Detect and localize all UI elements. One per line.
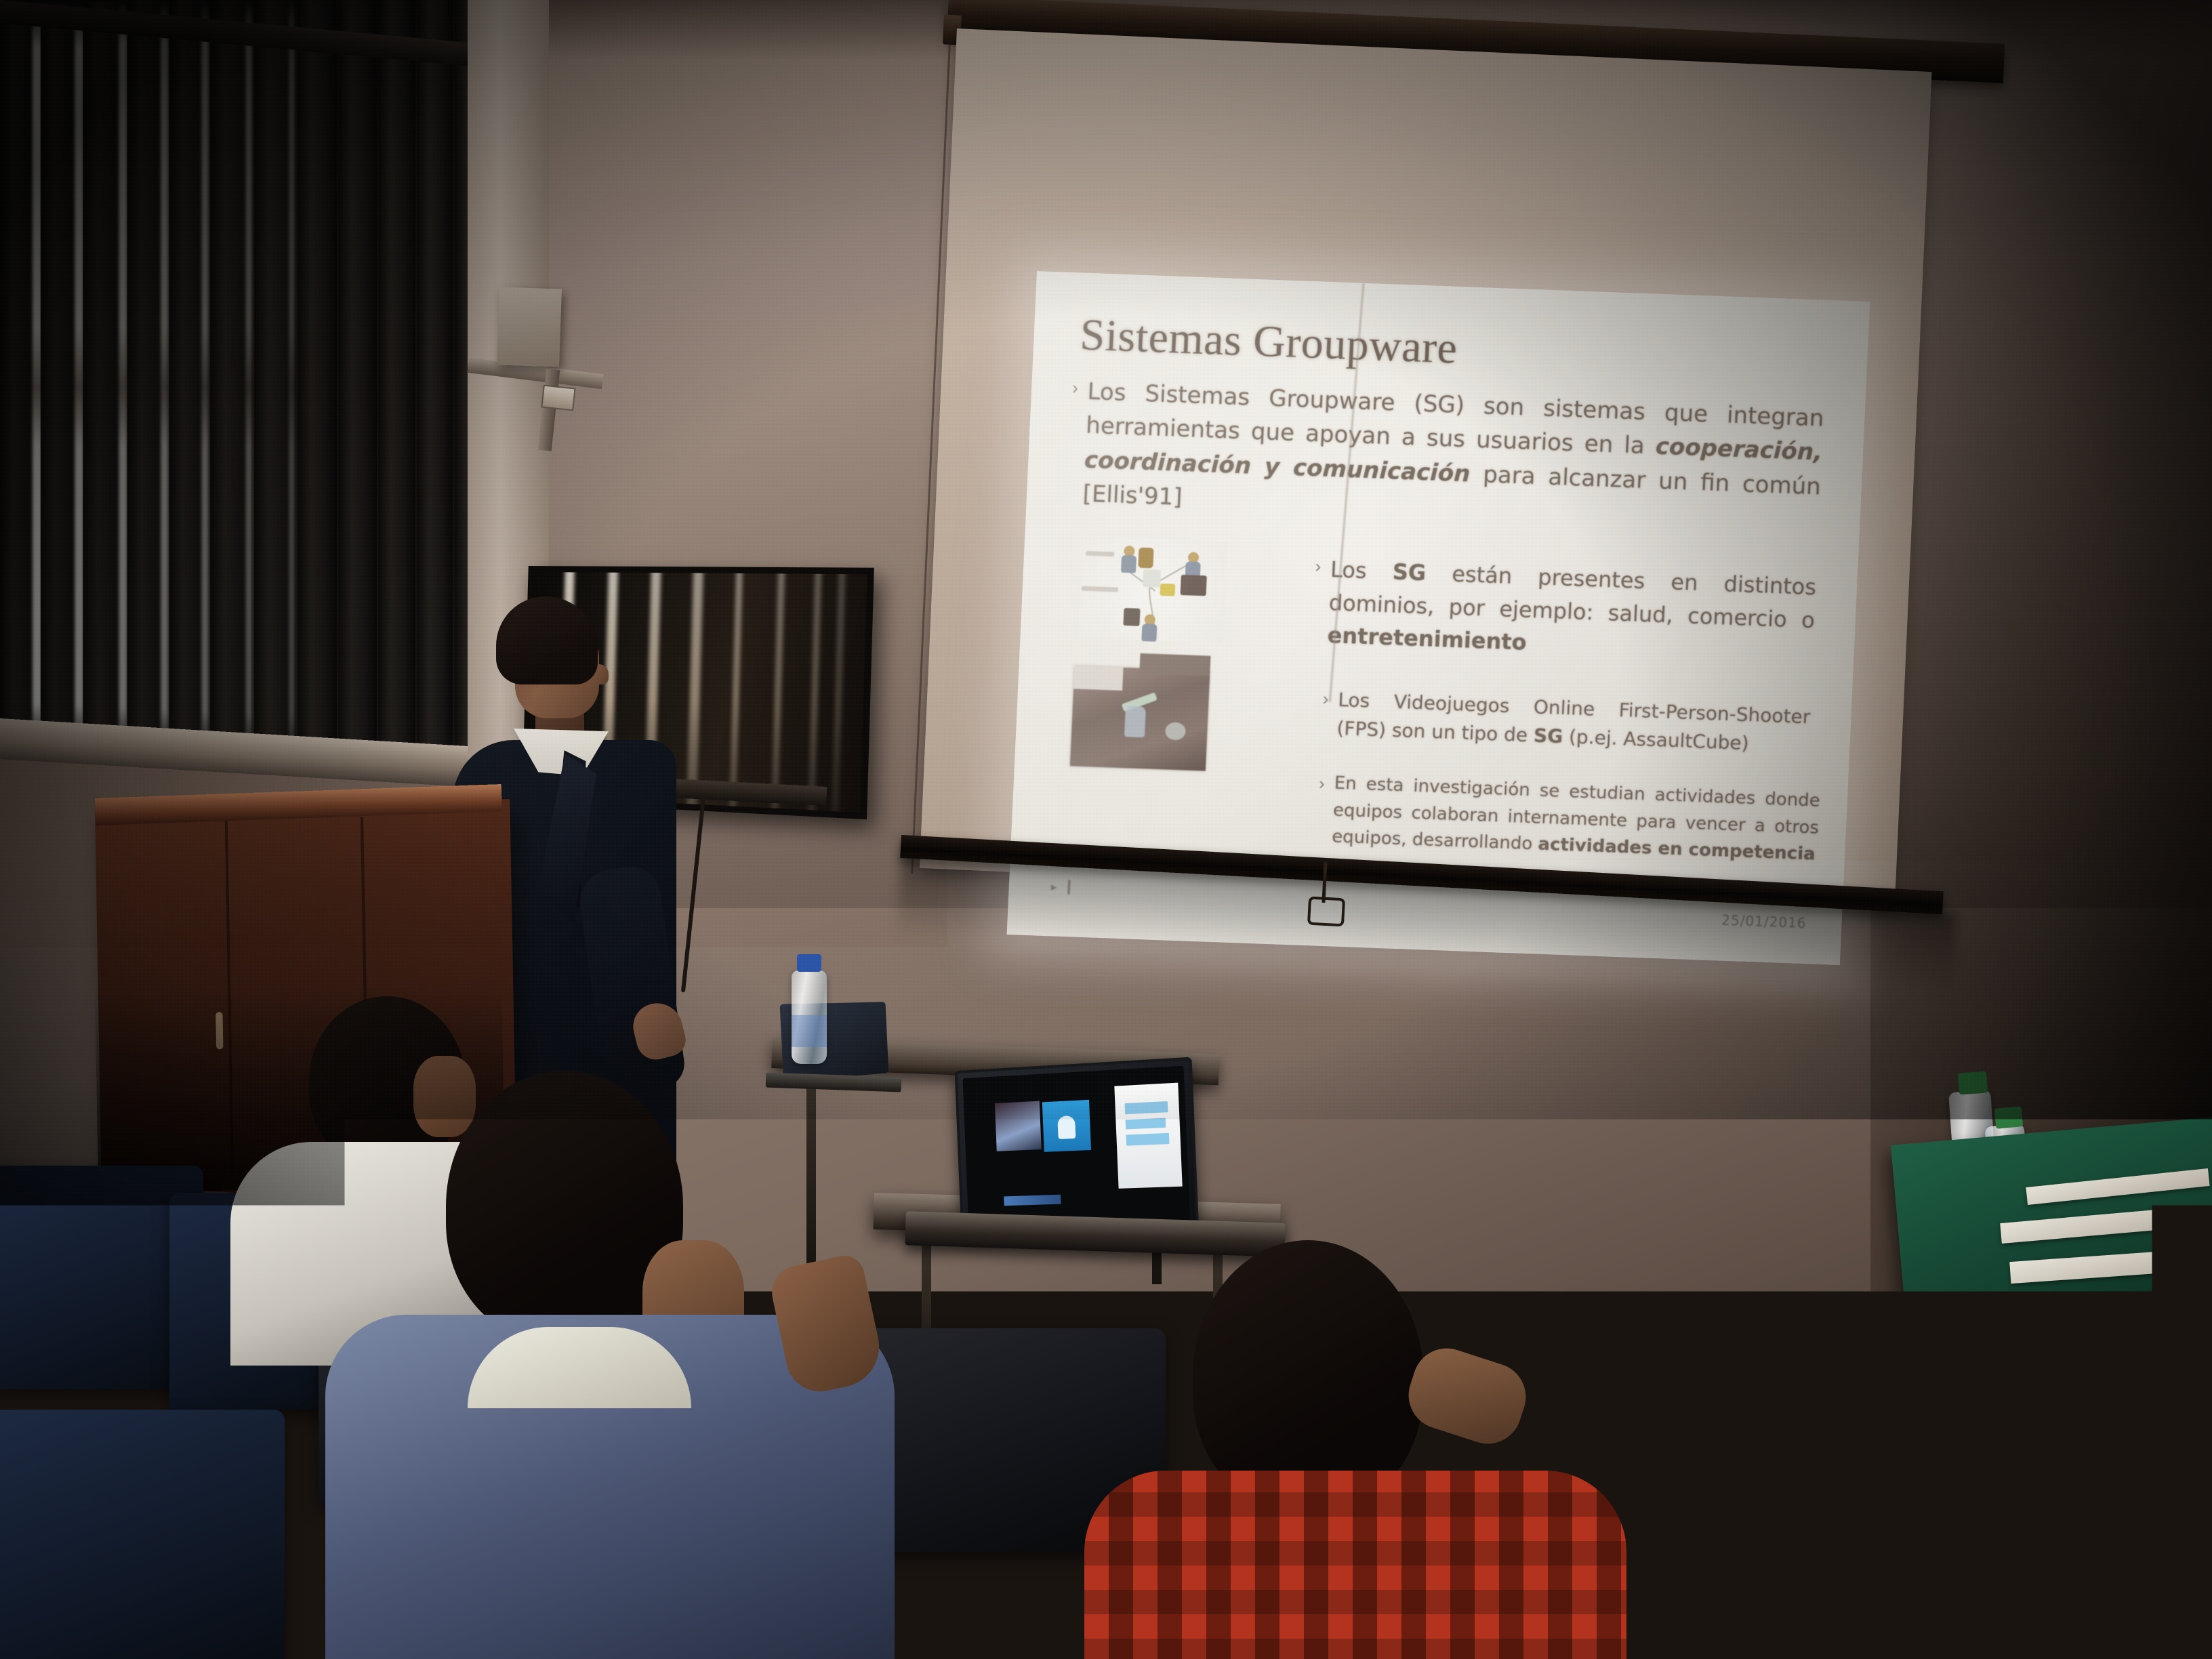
- water-bottle-blue-cap[interactable]: [792, 970, 827, 1064]
- wall-outlet[interactable]: [541, 385, 575, 411]
- bottle-cap-blue-icon: [797, 954, 821, 972]
- bullet-marker-icon: ›: [1315, 552, 1322, 577]
- slide-text-run: SG: [1392, 559, 1427, 586]
- video-tile-participant-icon: [995, 1101, 1042, 1151]
- blind-light-gap: [289, 0, 295, 752]
- bullet-marker-icon: ›: [1322, 685, 1329, 710]
- groupware-network-diagram-image: [1078, 536, 1229, 643]
- bottle-cap-green-icon: [1994, 1106, 2023, 1128]
- document-window-icon: [1114, 1083, 1182, 1189]
- slide-text-run: (p.ej. AssaultCube): [1562, 725, 1749, 754]
- blind-light-gap: [161, 0, 168, 747]
- blind-light-gap: [201, 0, 208, 748]
- slide-bullet-1-text: Los Sistemas Groupware (SG) son sistemas…: [1082, 375, 1825, 538]
- blind-slat: [338, 0, 376, 756]
- presentation-room-photo: Sistemas Groupware › Los Sistemas Groupw…: [0, 0, 2212, 1659]
- slide-body: › Los Sistemas Groupware (SG) son sistem…: [1032, 373, 1865, 403]
- chair[interactable]: [0, 1410, 285, 1659]
- slide-title: Sistemas Groupware: [1079, 309, 1458, 374]
- slide-bullet-2: › Los SG están presentes en distintos do…: [1311, 552, 1817, 670]
- slide-bullet-4-text: En esta investigación se estudian activi…: [1331, 771, 1820, 869]
- blind-light-gap: [119, 1, 127, 745]
- bottle-cap-green-icon: [1958, 1071, 1988, 1095]
- bullet-marker-icon: ›: [1318, 770, 1325, 794]
- slide-text-run: actividades en competencia: [1538, 834, 1816, 865]
- slide-bullet-3: › Los Videojuegos Online First-Person-Sh…: [1321, 685, 1811, 760]
- presenter-hair: [496, 596, 598, 684]
- bullet-marker-icon: ›: [1072, 374, 1079, 398]
- audience-plaid-shirt: [1111, 1240, 1586, 1659]
- blind-slat: [378, 0, 415, 758]
- audience-right-seat: [1803, 1288, 2182, 1659]
- window-frame: [0, 0, 501, 783]
- vertical-blinds[interactable]: [0, 0, 501, 762]
- presenter-laptop-screen: [962, 1066, 1190, 1227]
- slide-bullet-3-text: Los Videojuegos Online First-Person-Shoo…: [1336, 686, 1811, 760]
- blind-slat: [298, 0, 337, 754]
- blind-light-gap: [246, 0, 253, 750]
- slide-bullet-2-text: Los SG están presentes en distintos domi…: [1327, 553, 1817, 670]
- wall-speaker: [497, 287, 562, 367]
- slide-bullet-4: › En esta investigación se estudian acti…: [1316, 770, 1821, 869]
- tv-reflection: [832, 572, 846, 813]
- slide-text-run: SG: [1533, 724, 1563, 747]
- audience-blue-sweater-with-phone: [366, 1071, 854, 1659]
- slide-text-run: entretenimiento: [1327, 622, 1528, 655]
- laptop-taskbar: [1004, 1195, 1061, 1206]
- presenter-laptop[interactable]: [955, 1057, 1200, 1235]
- slide-bullet-1: › Los Sistemas Groupware (SG) son sistem…: [1067, 374, 1824, 538]
- fps-game-screenshot-image: [1070, 665, 1210, 771]
- tv-reflection: [808, 572, 822, 813]
- video-tile-avatar-icon: [1042, 1100, 1091, 1152]
- tv-reflection: [771, 572, 785, 813]
